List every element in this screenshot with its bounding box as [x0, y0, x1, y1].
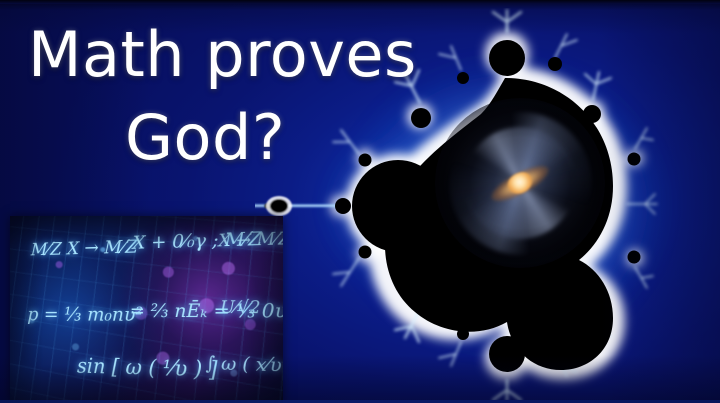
top-edge-band [0, 0, 720, 4]
math-formula-inset: M⁄Z X → M⁄Z X + 0⁄₀γ ; M⁄Z X → M⁄Z −1 Y … [10, 216, 283, 403]
inset-edge-shading [10, 216, 283, 403]
video-thumbnail: Math proves God? M⁄Z X → M⁄Z X + 0⁄₀γ ; … [0, 0, 720, 403]
